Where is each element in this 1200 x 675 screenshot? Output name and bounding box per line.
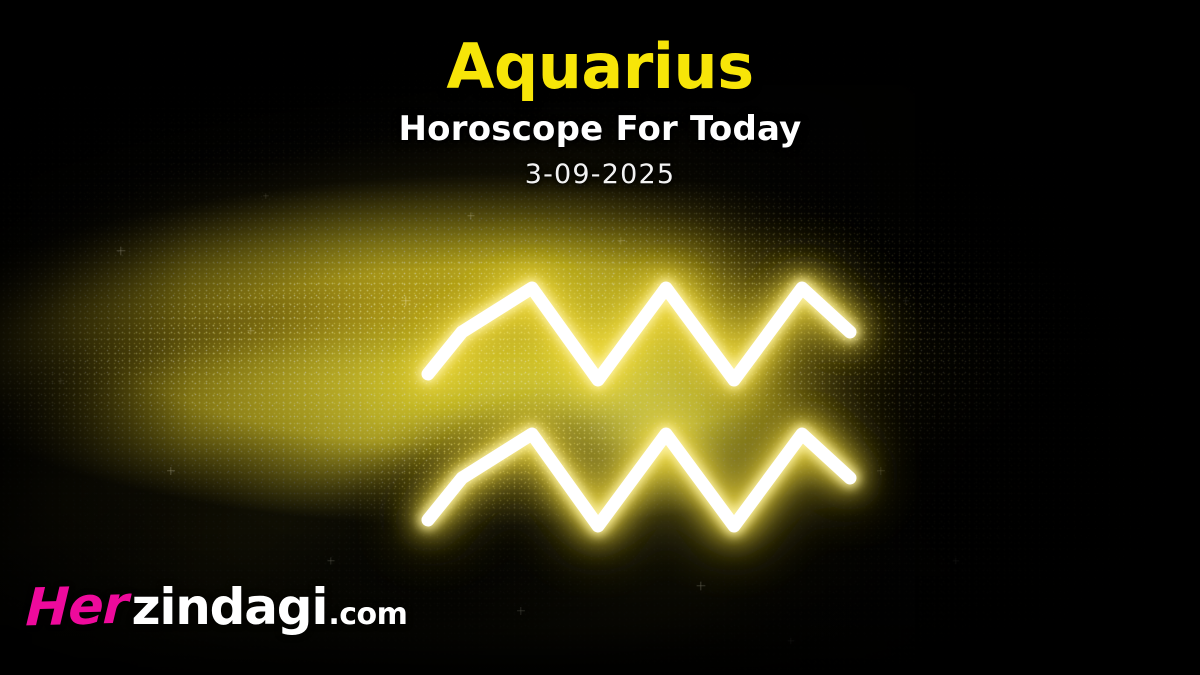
logo-com-text: .com: [328, 597, 407, 632]
horoscope-subtitle: Horoscope For Today: [0, 109, 1200, 149]
title-group: Aquarius Horoscope For Today 3-09-2025: [0, 34, 1200, 190]
zodiac-sign-title: Aquarius: [0, 34, 1200, 99]
aquarius-glyph: [420, 262, 860, 572]
aquarius-waves-icon: [420, 262, 860, 572]
herzindagi-logo[interactable]: Her zindagi .com: [26, 577, 407, 637]
logo-her-text: Her: [25, 576, 129, 639]
horoscope-date: 3-09-2025: [0, 159, 1200, 190]
logo-zindagi-text: zindagi: [131, 578, 327, 636]
horoscope-card: Aquarius Horoscope For Today 3-09-2025 H…: [0, 0, 1200, 675]
